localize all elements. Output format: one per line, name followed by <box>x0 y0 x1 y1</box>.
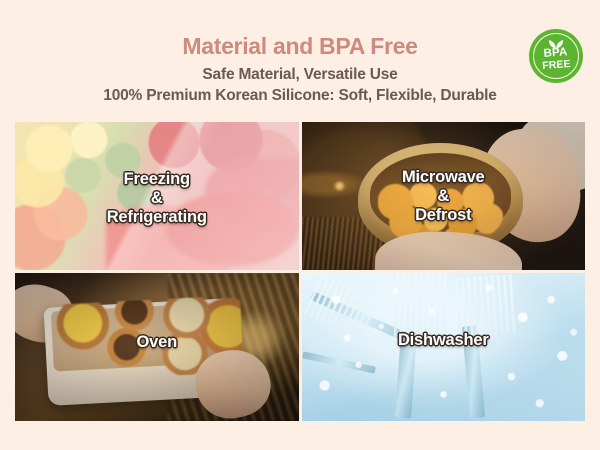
panel-label-dishwasher: Dishwasher <box>302 331 586 350</box>
panel-label-oven: Oven <box>15 333 299 352</box>
badge-text: BPA FREE <box>528 46 583 72</box>
panel-freezing[interactable]: Freezing & Refrigerating <box>15 122 299 270</box>
subtitle-line-1: Safe Material, Versatile Use <box>0 65 600 84</box>
panel-oven[interactable]: Oven <box>15 273 299 421</box>
panel-label-line3: Defrost <box>302 206 586 225</box>
panel-dishwasher[interactable]: Dishwasher <box>302 273 586 421</box>
panel-label-microwave: Microwave & Defrost <box>302 168 586 225</box>
panel-label-freezing: Freezing & Refrigerating <box>15 170 299 227</box>
panel-label-line3: Refrigerating <box>15 208 299 227</box>
feature-panel-grid: Freezing & Refrigerating Microwave & Def… <box>15 122 585 421</box>
panel-microwave[interactable]: Microwave & Defrost <box>302 122 586 270</box>
bpa-free-badge: BPA FREE <box>529 29 583 83</box>
panel-label-line1: Freezing <box>124 170 190 188</box>
header: Material and BPA Free Safe Material, Ver… <box>0 0 600 118</box>
panel-label-line1: Dishwasher <box>398 331 489 349</box>
panel-label-line1: Microwave <box>402 168 485 186</box>
panel-label-line2: & <box>302 187 586 206</box>
panel-label-line2: & <box>15 189 299 208</box>
panel-label-line1: Oven <box>137 333 177 351</box>
subtitle-line-2: 100% Premium Korean Silicone: Soft, Flex… <box>0 86 600 105</box>
page-title: Material and BPA Free <box>0 33 600 59</box>
